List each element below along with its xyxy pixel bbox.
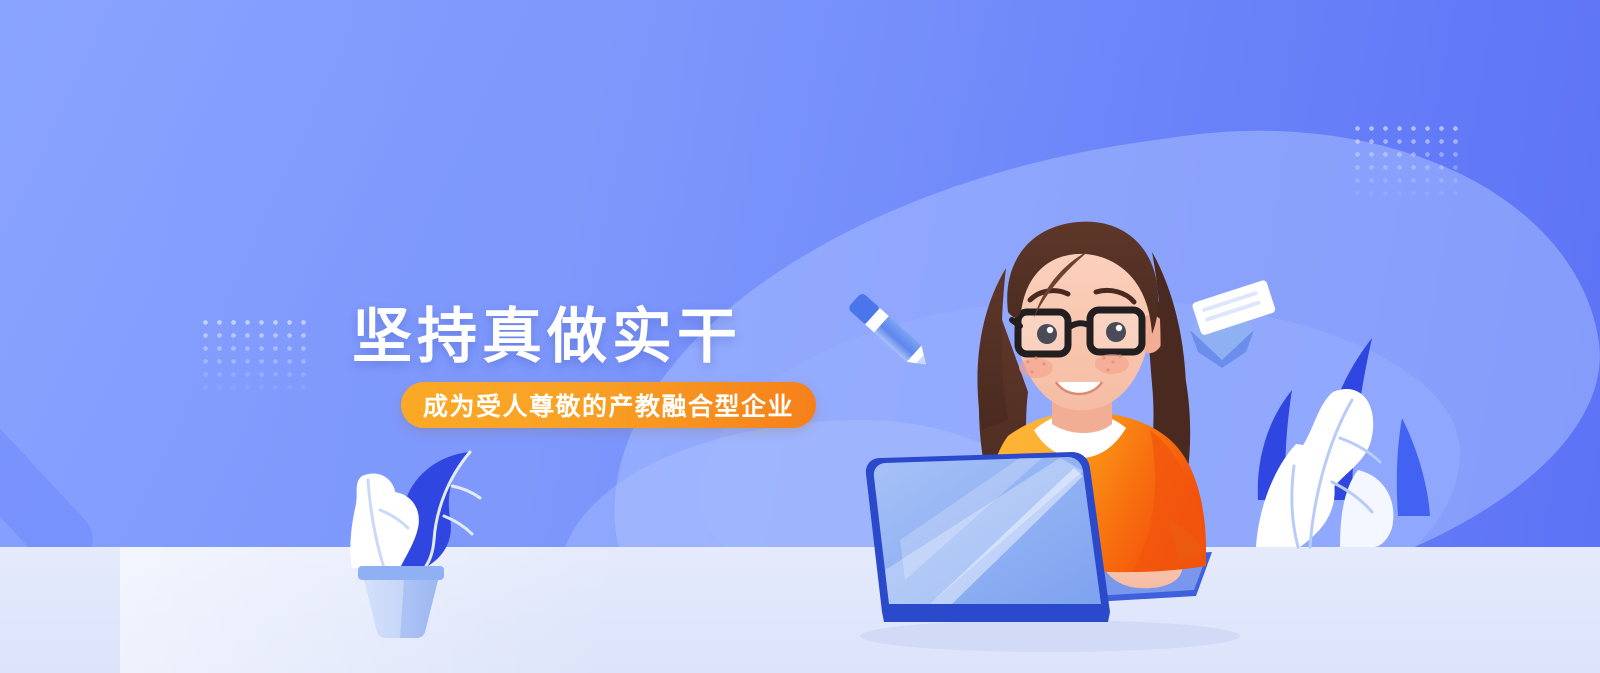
potted-plant-icon [350, 452, 480, 638]
hero-banner: 坚持真做实干 成为受人尊敬的产教融合型企业 [0, 0, 1600, 673]
tagline-badge: 成为受人尊敬的产教融合型企业 [401, 382, 816, 428]
pencil-icon [847, 292, 933, 373]
person-at-laptop-illustration [860, 222, 1240, 652]
leaf-cluster-right-icon [1256, 338, 1430, 547]
page-title: 坚持真做实干 [352, 288, 742, 375]
eye-left [1037, 324, 1057, 344]
tagline-text: 成为受人尊敬的产教融合型企业 [423, 387, 794, 423]
laptop-lid [866, 452, 1112, 612]
hero-illustration [0, 0, 1600, 673]
envelope-icon [1190, 279, 1276, 368]
eye-right [1106, 322, 1126, 342]
